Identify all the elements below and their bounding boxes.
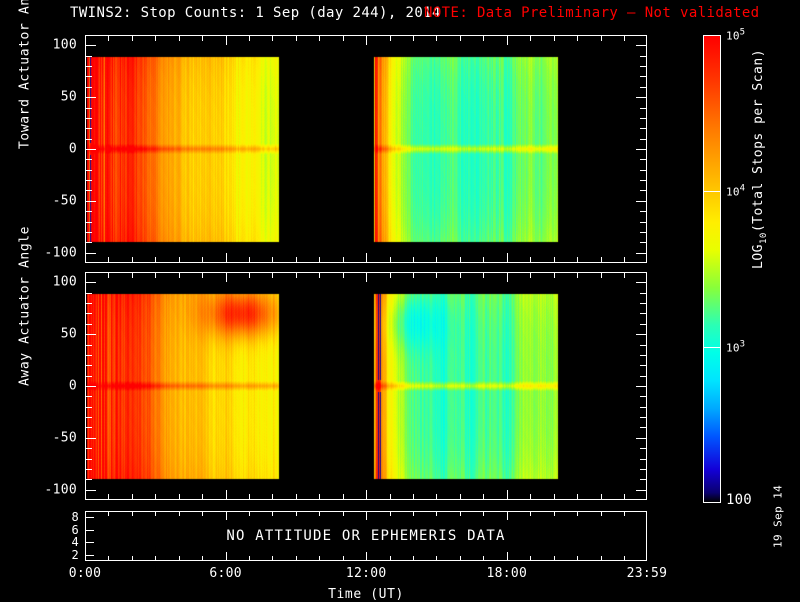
- y-tick-right: [640, 427, 647, 428]
- x-tick-top: [249, 511, 250, 516]
- x-tick-top: [413, 35, 414, 41]
- x-tick-top: [366, 511, 367, 520]
- x-tick-top: [319, 272, 320, 278]
- x-tick-top: [179, 511, 180, 516]
- y-tick-right: [640, 479, 647, 480]
- y-tick-right: [640, 417, 647, 418]
- y-tick-left: [85, 97, 96, 98]
- x-tick-top: [272, 272, 273, 278]
- x-tick-top: [413, 272, 414, 278]
- x-tick-bottom: [202, 556, 203, 561]
- x-tick-bottom: [366, 552, 367, 561]
- x-tick-bottom: [601, 494, 602, 500]
- y-tick-left: [85, 490, 96, 491]
- x-tick-bottom: [554, 556, 555, 561]
- colorbar: [703, 35, 721, 503]
- x-tick-top: [483, 511, 484, 516]
- x-tick-top: [624, 511, 625, 516]
- x-tick-bottom: [507, 552, 508, 561]
- x-tick-bottom: [319, 494, 320, 500]
- x-tick-top: [507, 35, 508, 45]
- y-tick-left: [85, 45, 96, 46]
- x-tick-bottom: [343, 257, 344, 263]
- x-tick-label: 23:59: [627, 566, 668, 581]
- x-tick-top: [390, 511, 391, 516]
- x-tick-bottom: [249, 556, 250, 561]
- x-tick-bottom: [272, 257, 273, 263]
- colorbar-tick-label: 103: [726, 340, 745, 355]
- y-tick-left: [85, 376, 92, 377]
- y-tick-left: [85, 324, 92, 325]
- x-tick-bottom: [530, 556, 531, 561]
- y-tick-right: [636, 45, 647, 46]
- y-tick-left: [85, 355, 92, 356]
- x-tick-top: [554, 511, 555, 516]
- x-tick-bottom: [179, 494, 180, 500]
- y-tick-right: [640, 469, 647, 470]
- y-tick-right: [640, 66, 647, 67]
- x-tick-top: [132, 272, 133, 278]
- x-tick-top: [577, 272, 578, 278]
- x-tick-bottom: [577, 556, 578, 561]
- y-tick-right: [640, 211, 647, 212]
- y-tick-right: [640, 180, 647, 181]
- x-tick-top: [554, 35, 555, 41]
- colorbar-gradient: [704, 36, 720, 502]
- x-tick-top: [366, 272, 367, 282]
- y-tick-left: [85, 201, 96, 202]
- x-tick-bottom: [483, 556, 484, 561]
- x-tick-bottom: [483, 494, 484, 500]
- x-tick-top: [249, 272, 250, 278]
- y-tick-right: [636, 386, 647, 387]
- preliminary-note: NOTE: Data Preliminary — Not validated: [424, 5, 760, 21]
- x-tick-top: [202, 511, 203, 516]
- x-tick-bottom: [577, 494, 578, 500]
- x-tick-top: [624, 272, 625, 278]
- x-tick-bottom: [202, 257, 203, 263]
- x-tick-bottom: [272, 494, 273, 500]
- y-tick-right: [640, 407, 647, 408]
- y-tick-right: [636, 201, 647, 202]
- y-tick-left: [85, 108, 92, 109]
- x-tick-bottom: [390, 556, 391, 561]
- x-tick-top: [249, 35, 250, 41]
- y-tick-left: [85, 303, 92, 304]
- y-tick-label: 2: [35, 548, 79, 562]
- panel-away-actuator-angle: [85, 272, 647, 500]
- colorbar-tick-label: 105: [726, 28, 745, 43]
- x-tick-top: [343, 272, 344, 278]
- x-tick-top: [460, 272, 461, 278]
- x-tick-top: [132, 511, 133, 516]
- y-tick-left: [85, 139, 92, 140]
- colorbar-tick-label: 100: [726, 492, 752, 508]
- y-tick-right: [640, 56, 647, 57]
- y-tick-left: [85, 479, 92, 480]
- x-tick-top: [319, 511, 320, 516]
- y-tick-left: [85, 334, 96, 335]
- y-tick-right: [636, 438, 647, 439]
- x-tick-bottom: [436, 494, 437, 500]
- x-tick-bottom: [624, 257, 625, 263]
- x-tick-bottom: [132, 556, 133, 561]
- x-tick-top: [577, 511, 578, 516]
- y-tick-left: [85, 530, 94, 531]
- y-tick-left: [85, 407, 92, 408]
- x-tick-top: [601, 35, 602, 41]
- y-tick-left: [85, 555, 94, 556]
- y-tick-left: [85, 159, 92, 160]
- x-tick-bottom: [366, 490, 367, 500]
- x-tick-bottom: [202, 494, 203, 500]
- y-tick-left: [85, 56, 92, 57]
- y-tick-left: [85, 180, 92, 181]
- y-tick-left: [85, 222, 92, 223]
- x-tick-label: 6:00: [209, 566, 242, 581]
- y-tick-left: [85, 386, 96, 387]
- x-tick-top: [483, 272, 484, 278]
- x-tick-top: [436, 35, 437, 41]
- x-tick-top: [132, 35, 133, 41]
- x-tick-top: [601, 272, 602, 278]
- y-tick-label: -50: [17, 430, 77, 445]
- x-tick-top: [202, 272, 203, 278]
- y-tick-left: [85, 170, 92, 171]
- y-tick-right: [640, 365, 647, 366]
- x-tick-top: [530, 272, 531, 278]
- y-tick-left: [85, 542, 94, 543]
- x-tick-bottom: [319, 556, 320, 561]
- x-tick-top: [436, 511, 437, 516]
- x-tick-bottom: [624, 556, 625, 561]
- x-tick-top: [413, 511, 414, 516]
- y-tick-right: [640, 303, 647, 304]
- y-tick-right: [640, 448, 647, 449]
- y-tick-left: [85, 87, 92, 88]
- plot-window: TWINS2: Stop Counts: 1 Sep (day 244), 20…: [0, 0, 800, 600]
- y-tick-label: -100: [17, 482, 77, 497]
- x-tick-bottom: [601, 257, 602, 263]
- x-tick-top: [155, 511, 156, 516]
- x-tick-bottom: [155, 494, 156, 500]
- x-tick-bottom: [179, 257, 180, 263]
- y-tick-right: [640, 345, 647, 346]
- x-tick-bottom: [155, 556, 156, 561]
- x-tick-top: [108, 35, 109, 41]
- y-tick-right: [640, 159, 647, 160]
- x-tick-top: [226, 35, 227, 45]
- y-tick-label: -50: [17, 193, 77, 208]
- x-tick-top: [296, 35, 297, 41]
- x-tick-bottom: [296, 257, 297, 263]
- x-tick-bottom: [249, 257, 250, 263]
- x-tick-bottom: [460, 556, 461, 561]
- x-tick-label: 0:00: [69, 566, 102, 581]
- y-tick-left: [85, 469, 92, 470]
- y-tick-right: [636, 149, 647, 150]
- colorbar-tick: [703, 347, 721, 348]
- y-tick-left: [85, 282, 96, 283]
- x-tick-bottom: [460, 257, 461, 263]
- y-tick-right: [640, 232, 647, 233]
- y-tick-right: [636, 334, 647, 335]
- y-tick-left: [85, 149, 96, 150]
- y-tick-right: [640, 118, 647, 119]
- x-tick-top: [272, 511, 273, 516]
- x-tick-bottom: [272, 556, 273, 561]
- y-tick-right: [640, 242, 647, 243]
- y-tick-right: [640, 222, 647, 223]
- x-tick-bottom: [390, 494, 391, 500]
- y-tick-left: [85, 118, 92, 119]
- spectrogram-away: [86, 273, 647, 499]
- x-tick-bottom: [436, 257, 437, 263]
- y-tick-right: [636, 97, 647, 98]
- y-tick-right: [640, 190, 647, 191]
- x-tick-top: [390, 35, 391, 41]
- x-tick-bottom: [624, 494, 625, 500]
- x-tick-top: [601, 511, 602, 516]
- y-tick-right: [640, 313, 647, 314]
- x-tick-bottom: [366, 253, 367, 263]
- x-tick-bottom: [296, 556, 297, 561]
- x-tick-bottom: [460, 494, 461, 500]
- x-tick-top: [507, 511, 508, 520]
- y-tick-left: [85, 448, 92, 449]
- y-tick-left: [85, 190, 92, 191]
- x-tick-top: [530, 35, 531, 41]
- x-tick-bottom: [179, 556, 180, 561]
- x-tick-bottom: [413, 556, 414, 561]
- y-tick-left: [85, 459, 92, 460]
- x-tick-top: [108, 272, 109, 278]
- x-tick-bottom: [132, 494, 133, 500]
- x-tick-bottom: [390, 257, 391, 263]
- y-tick-right: [640, 293, 647, 294]
- x-tick-bottom: [483, 257, 484, 263]
- x-tick-bottom: [343, 494, 344, 500]
- x-tick-top: [483, 35, 484, 41]
- title-bar: TWINS2: Stop Counts: 1 Sep (day 244), 20…: [0, 5, 800, 25]
- x-tick-bottom: [577, 257, 578, 263]
- x-tick-top: [202, 35, 203, 41]
- x-tick-top: [296, 272, 297, 278]
- y-tick-right: [636, 490, 647, 491]
- y-tick-left: [85, 517, 94, 518]
- y-tick-left: [85, 365, 92, 366]
- x-tick-top: [226, 511, 227, 520]
- x-tick-bottom: [601, 556, 602, 561]
- x-tick-top: [460, 511, 461, 516]
- y-tick-left: [85, 128, 92, 129]
- colorbar-tick-label: 104: [726, 184, 745, 199]
- x-tick-bottom: [296, 494, 297, 500]
- y-tick-right: [640, 128, 647, 129]
- x-tick-label: 12:00: [346, 566, 387, 581]
- spectrogram-toward: [86, 36, 647, 262]
- x-tick-top: [624, 35, 625, 41]
- x-tick-top: [179, 35, 180, 41]
- y-tick-right: [636, 253, 647, 254]
- x-tick-bottom: [108, 494, 109, 500]
- y-tick-right: [640, 376, 647, 377]
- y-tick-left: [85, 438, 96, 439]
- x-tick-top: [155, 35, 156, 41]
- x-tick-bottom: [413, 494, 414, 500]
- y-tick-left: [85, 232, 92, 233]
- x-tick-top: [530, 511, 531, 516]
- y-tick-left: [85, 76, 92, 77]
- y-tick-left: [85, 427, 92, 428]
- y-tick-left: [85, 313, 92, 314]
- x-tick-bottom: [554, 257, 555, 263]
- x-tick-top: [343, 35, 344, 41]
- y-tick-left: [85, 66, 92, 67]
- y-tick-right: [640, 459, 647, 460]
- x-tick-bottom: [319, 257, 320, 263]
- x-tick-bottom: [436, 556, 437, 561]
- x-tick-top: [296, 511, 297, 516]
- y-tick-right: [640, 170, 647, 171]
- x-tick-label: 18:00: [486, 566, 527, 581]
- x-tick-bottom: [226, 552, 227, 561]
- x-tick-bottom: [226, 253, 227, 263]
- x-tick-top: [319, 35, 320, 41]
- y-tick-left: [85, 417, 92, 418]
- x-tick-top: [179, 272, 180, 278]
- x-tick-top: [226, 272, 227, 282]
- x-tick-bottom: [155, 257, 156, 263]
- x-tick-bottom: [132, 257, 133, 263]
- no-ephemeris-message: NO ATTITUDE OR EPHEMERIS DATA: [226, 528, 505, 544]
- colorbar-tick: [703, 191, 721, 192]
- y-tick-left: [85, 345, 92, 346]
- y-tick-left: [85, 242, 92, 243]
- y-tick-right: [640, 396, 647, 397]
- y-tick-right: [640, 87, 647, 88]
- y-tick-left: [85, 293, 92, 294]
- y-tick-right: [636, 282, 647, 283]
- x-tick-bottom: [507, 490, 508, 500]
- x-tick-bottom: [554, 494, 555, 500]
- x-tick-top: [436, 272, 437, 278]
- x-tick-bottom: [530, 257, 531, 263]
- y-tick-right: [640, 108, 647, 109]
- x-tick-bottom: [249, 494, 250, 500]
- y-tick-right: [640, 355, 647, 356]
- x-tick-bottom: [507, 253, 508, 263]
- y-tick-left: [85, 396, 92, 397]
- x-tick-top: [155, 272, 156, 278]
- x-tick-bottom: [343, 556, 344, 561]
- x-tick-bottom: [108, 556, 109, 561]
- x-tick-top: [460, 35, 461, 41]
- y-tick-right: [640, 76, 647, 77]
- page-title: TWINS2: Stop Counts: 1 Sep (day 244), 20…: [70, 5, 441, 21]
- y-tick-left: [85, 211, 92, 212]
- x-tick-top: [343, 511, 344, 516]
- y-tick-left: [85, 253, 96, 254]
- x-tick-top: [272, 35, 273, 41]
- y-tick-right: [640, 139, 647, 140]
- x-tick-top: [507, 272, 508, 282]
- x-tick-top: [554, 272, 555, 278]
- panel-toward-actuator-angle: [85, 35, 647, 263]
- x-tick-top: [366, 35, 367, 45]
- x-tick-top: [577, 35, 578, 41]
- x-tick-bottom: [108, 257, 109, 263]
- x-tick-bottom: [226, 490, 227, 500]
- y-tick-right: [640, 324, 647, 325]
- x-tick-top: [390, 272, 391, 278]
- x-tick-bottom: [530, 494, 531, 500]
- x-tick-bottom: [413, 257, 414, 263]
- x-tick-top: [108, 511, 109, 516]
